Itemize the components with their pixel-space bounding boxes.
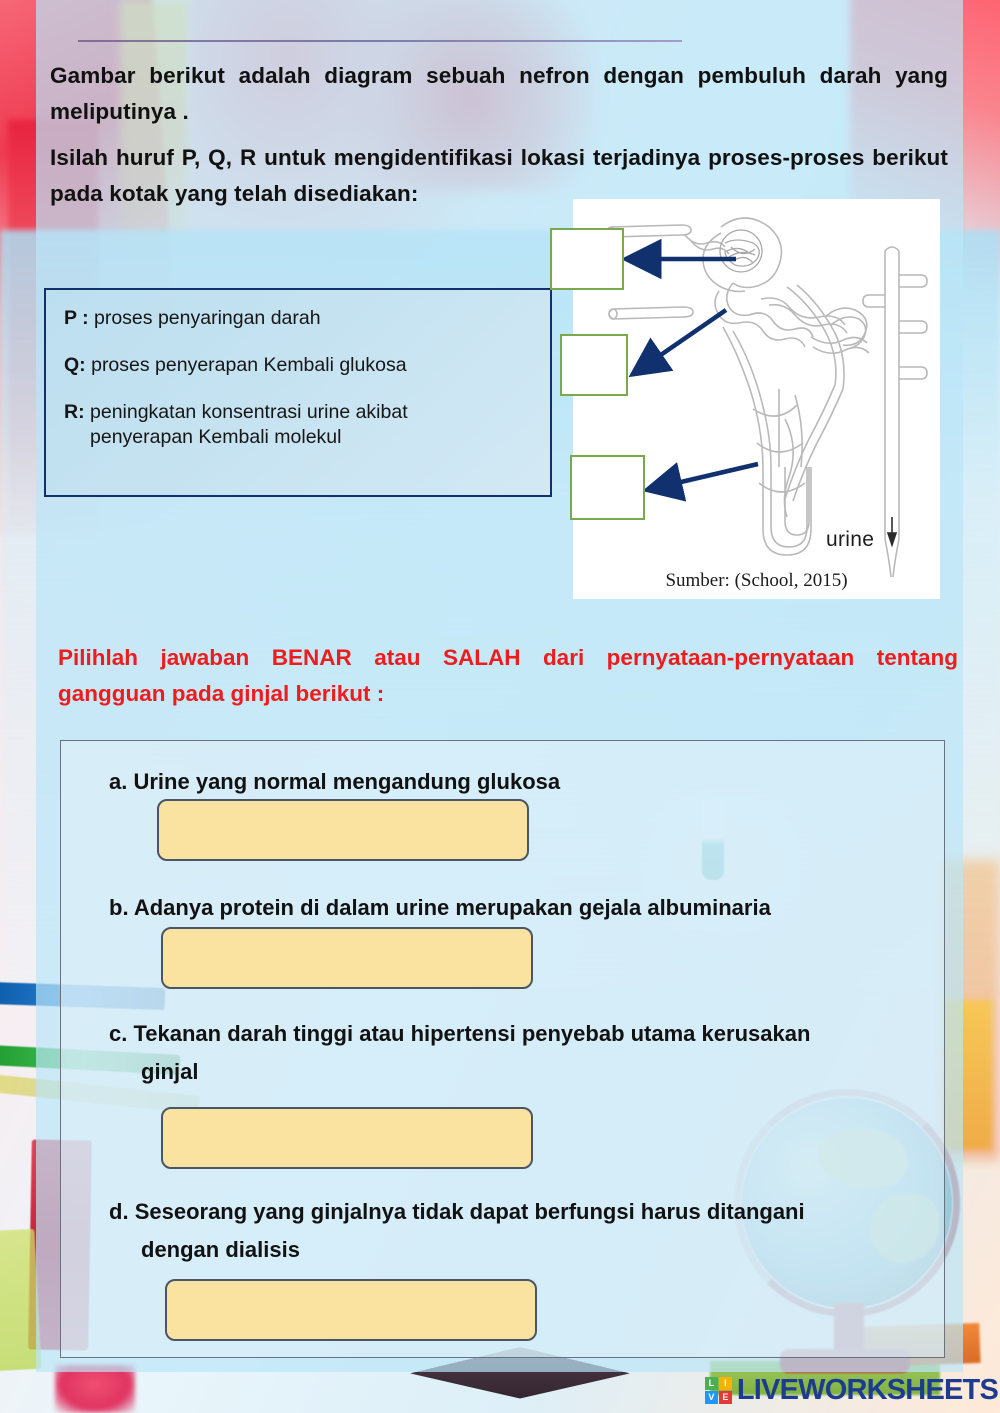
- answer-input-b[interactable]: [161, 927, 533, 989]
- legend-text-q: proses penyerapan Kembali glukosa: [91, 354, 406, 376]
- legend-item-p: P : proses penyaringan darah: [64, 306, 536, 331]
- question-b-body: Adanya protein di dalam urine merupakan …: [134, 895, 771, 920]
- logo-square-e: E: [719, 1391, 732, 1404]
- question-b-text: b. Adanya protein di dalam urine merupak…: [109, 889, 929, 927]
- figure-urine-label: urine: [826, 528, 874, 552]
- logo-letter-squares: L I V E: [705, 1377, 732, 1404]
- answer-input-d[interactable]: [165, 1279, 537, 1341]
- figure-caption: Sumber: (School, 2015): [573, 570, 940, 592]
- worksheet-sheet: Gambar berikut adalah diagram sebuah nef…: [36, 0, 963, 1372]
- nephron-diagram-figure: [573, 199, 940, 599]
- question-d-text: d. Seseorang yang ginjalnya tidak dapat …: [109, 1193, 949, 1231]
- drop-box-2[interactable]: [560, 334, 628, 396]
- legend-key-r: R:: [64, 401, 85, 423]
- legend-key-q: Q:: [64, 354, 86, 376]
- question-c-label: c.: [109, 1021, 127, 1046]
- question-d-body: Seseorang yang ginjalnya tidak dapat ber…: [135, 1199, 805, 1224]
- question-c-body: Tekanan darah tinggi atau hipertensi pen…: [133, 1021, 810, 1046]
- nephron-diagram-icon: [573, 199, 940, 599]
- legend-text-p: proses penyaringan darah: [94, 307, 321, 329]
- logo-wordmark: LIVEWORKSHEETS: [737, 1374, 998, 1407]
- liveworksheets-logo[interactable]: L I V E LIVEWORKSHEETS: [705, 1374, 998, 1407]
- question-d-label: d.: [109, 1199, 129, 1224]
- header-divider: [78, 40, 682, 42]
- legend-box: P : proses penyaringan darah Q: proses p…: [44, 288, 552, 497]
- question-a-body: Urine yang normal mengandung glukosa: [133, 769, 560, 794]
- instruction-text: Pilihlah jawaban BENAR atau SALAH dari p…: [58, 640, 958, 712]
- legend-item-r: R: peningkatan konsentrasi urine akibat: [64, 400, 536, 425]
- answer-input-a[interactable]: [157, 799, 529, 861]
- question-a-text: a. Urine yang normal mengandung glukosa: [109, 763, 909, 801]
- question-c-text: c. Tekanan darah tinggi atau hipertensi …: [109, 1015, 944, 1053]
- question-b-label: b.: [109, 895, 129, 920]
- question-a-label: a.: [109, 769, 127, 794]
- legend-key-p: P :: [64, 307, 89, 329]
- intro-paragraph-1: Gambar berikut adalah diagram sebuah nef…: [50, 58, 948, 130]
- logo-square-v: V: [705, 1391, 718, 1404]
- logo-square-i: I: [719, 1377, 732, 1390]
- question-d-text-line2: dengan dialisis: [141, 1231, 541, 1269]
- legend-text-r: peningkatan konsentrasi urine akibat: [90, 401, 408, 423]
- answers-container: a. Urine yang normal mengandung glukosa …: [60, 740, 945, 1358]
- drop-box-1[interactable]: [550, 228, 624, 290]
- legend-item-q: Q: proses penyerapan Kembali glukosa: [64, 353, 536, 378]
- question-c-text-line2: ginjal: [141, 1053, 541, 1091]
- answer-input-c[interactable]: [161, 1107, 533, 1169]
- legend-text-r-line2: penyerapan Kembali molekul: [90, 426, 536, 449]
- logo-square-l: L: [705, 1377, 718, 1390]
- eraser-icon: [55, 1365, 135, 1413]
- drop-box-3[interactable]: [570, 455, 645, 520]
